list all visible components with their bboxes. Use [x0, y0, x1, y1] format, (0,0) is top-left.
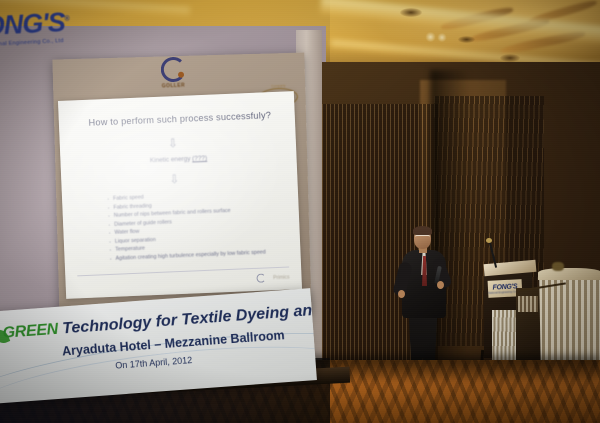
slide-title: How to perform such process successfuly? [75, 110, 285, 129]
presenter-hair [413, 226, 432, 235]
slide-footer-logo-label: Primics [273, 274, 290, 281]
wall-brand-logo: ONG'S® National Engineering Co., Ltd [0, 7, 105, 48]
conference-photo: ONG'S® National Engineering Co., Ltd GOL… [0, 0, 600, 423]
recessed-downlight [458, 36, 475, 43]
ceiling-spotlight [425, 32, 436, 42]
ceiling-spotlight [437, 33, 447, 42]
down-arrow-icon: ⇩ [169, 172, 180, 186]
goller-logo: GOLLER [159, 57, 186, 92]
recessed-downlight [400, 8, 422, 17]
recessed-downlight [500, 54, 520, 62]
down-arrow-icon: ⇩ [168, 136, 179, 150]
slide-bullet-list: Fabric speed Fabric threading Number of … [106, 188, 269, 263]
presenter-right-hand [437, 281, 444, 289]
c-dot-icon [177, 72, 183, 78]
draped-table-top [538, 268, 600, 280]
slide-kinetic-energy-label: Kinetic energy (???) [60, 151, 296, 168]
projected-slide: How to perform such process successfuly?… [58, 91, 302, 299]
table-object [552, 262, 564, 271]
slide-footer-logos: Primics [185, 272, 289, 285]
slide-kinetic-underlined: (???) [192, 155, 207, 163]
eyeglasses-icon [415, 235, 430, 240]
goller-mini-icon [256, 274, 265, 283]
banner-title-green: GREEN [2, 321, 59, 342]
side-cabinet-front [518, 296, 538, 312]
presenter-left-hand [398, 290, 405, 298]
goller-logo-text: GOLLER [160, 83, 186, 90]
registered-mark-icon: ® [64, 16, 69, 23]
wall-brand-name: ONG'S® [0, 7, 104, 40]
c-ring-icon [160, 57, 186, 83]
gooseneck-mic-head-icon [486, 238, 492, 243]
